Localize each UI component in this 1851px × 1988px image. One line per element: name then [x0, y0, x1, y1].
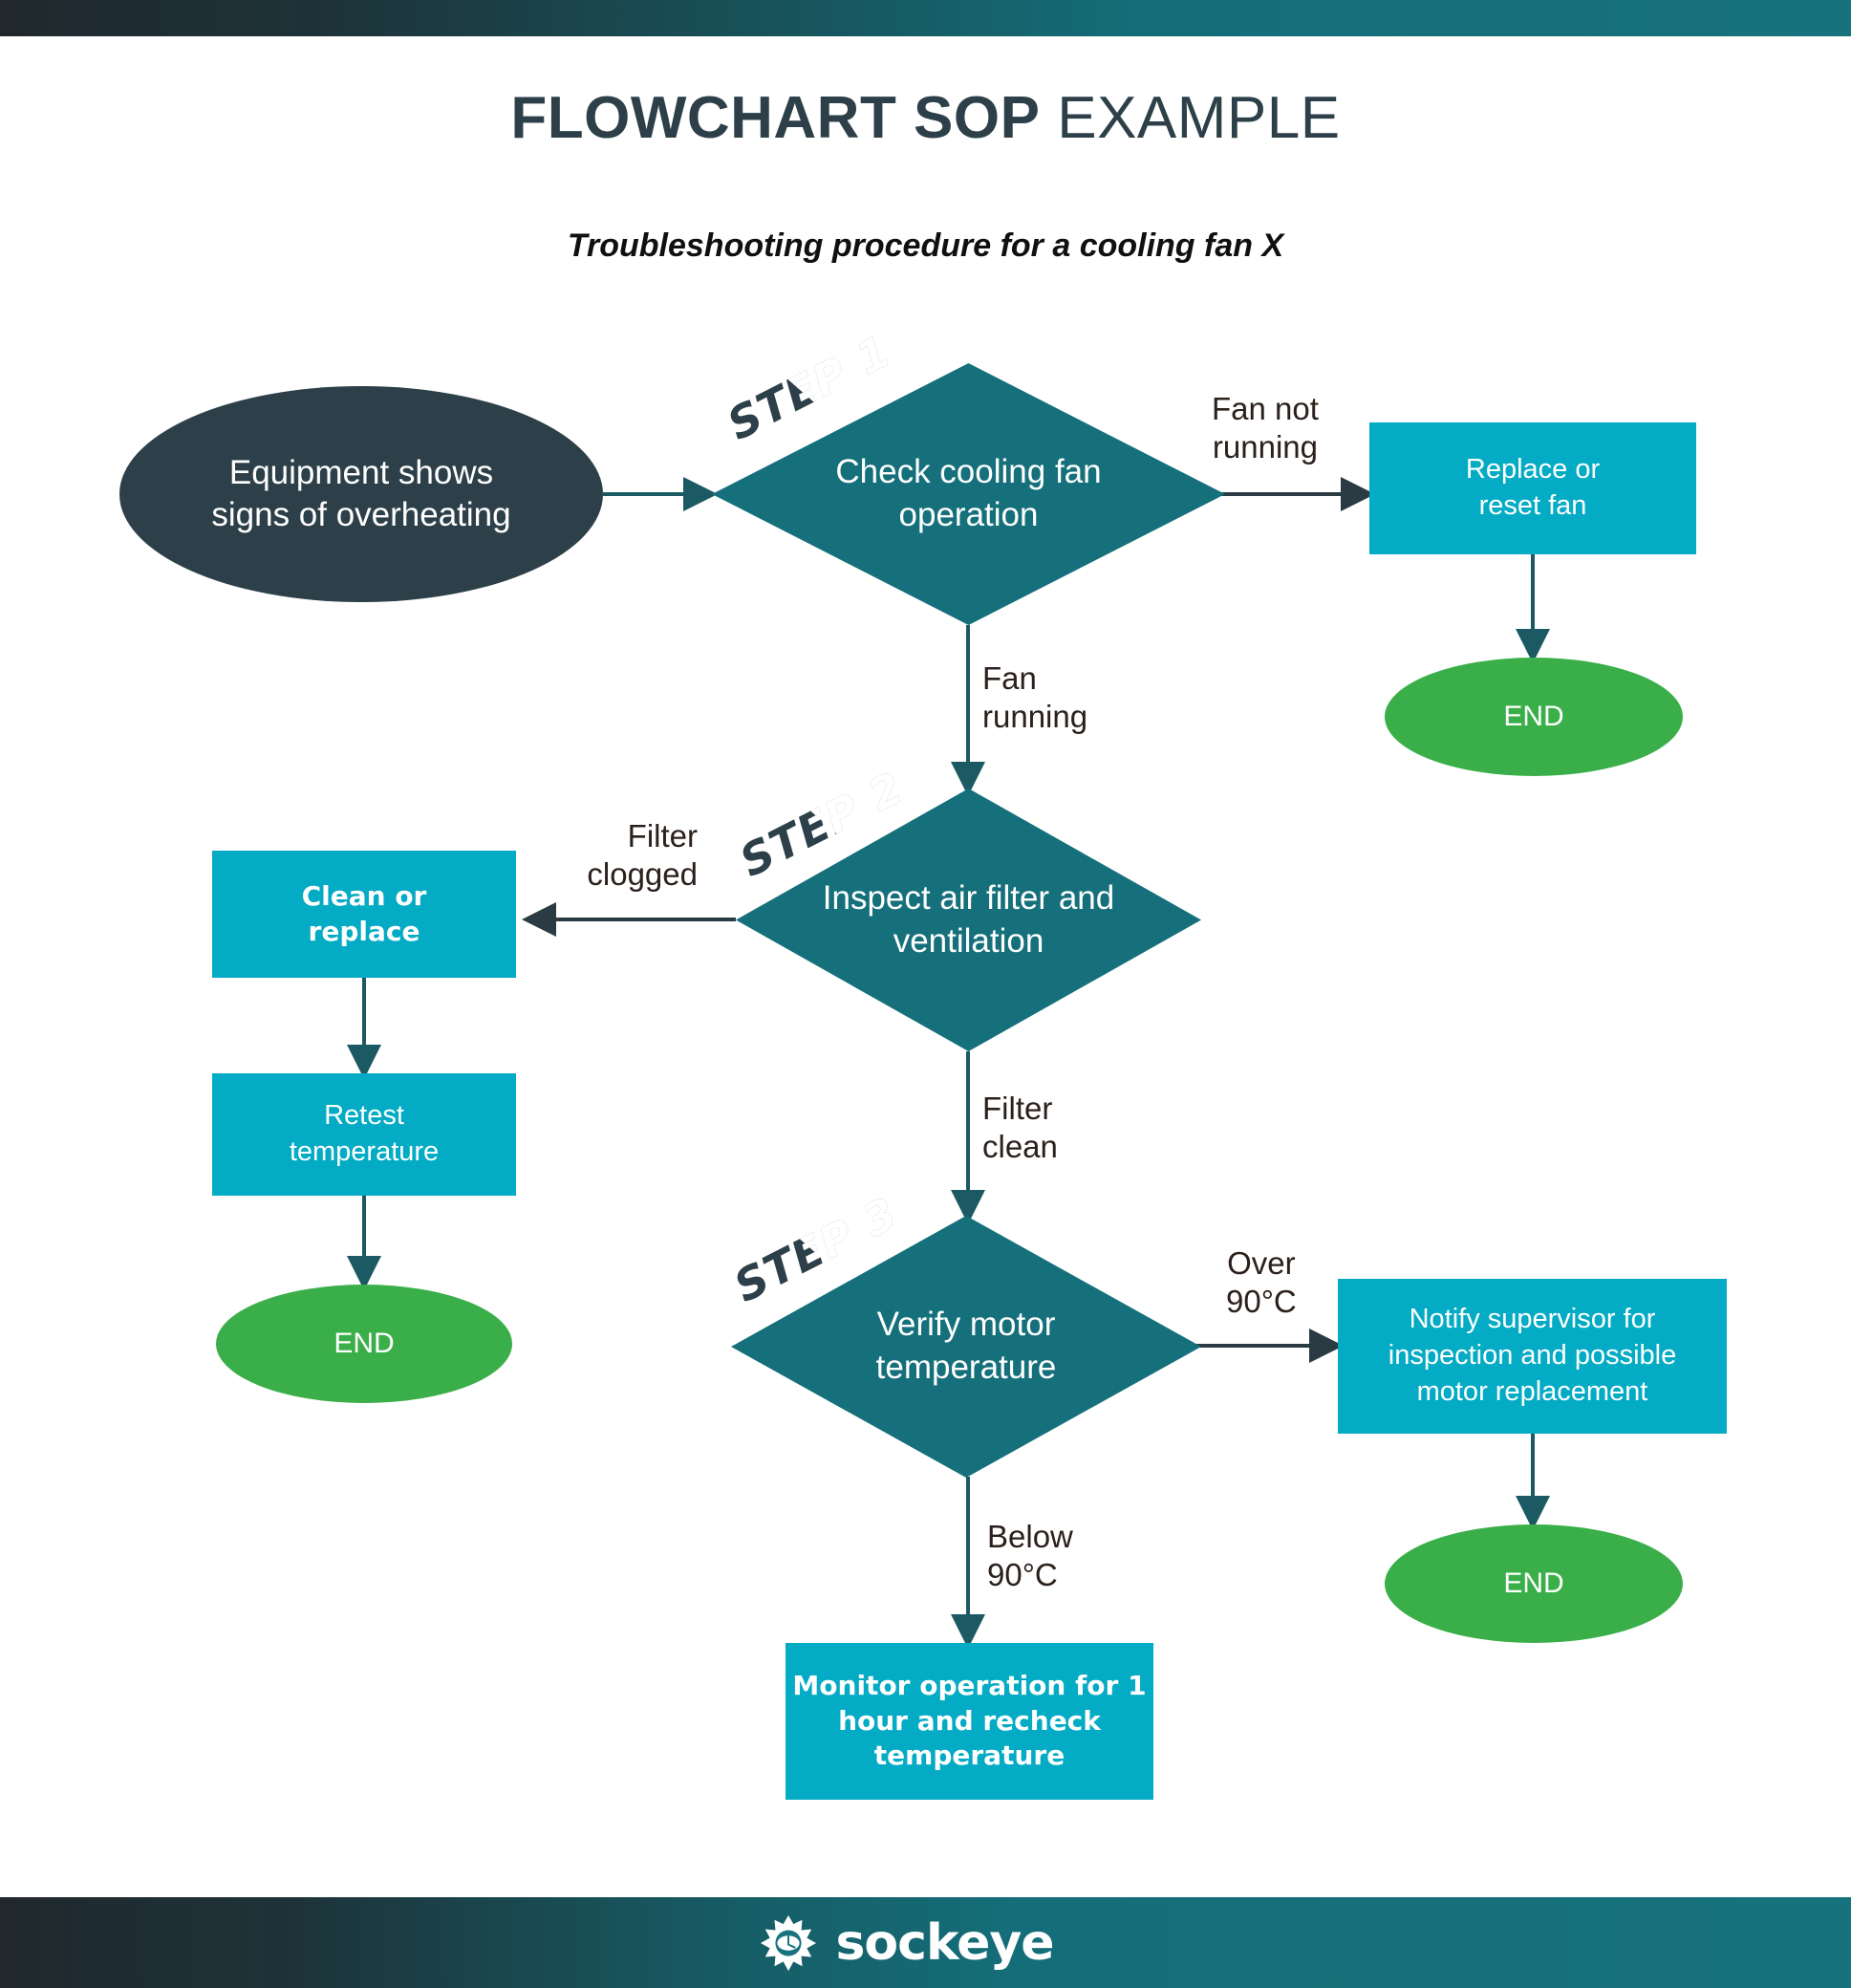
node-start-label: Equipment shows signs of overheating: [211, 452, 510, 536]
node-step2-label: Inspect air filter and ventilation: [823, 877, 1114, 963]
node-monitor-operation-label: Monitor operation for 1 hour and recheck…: [792, 1669, 1146, 1773]
node-end-3[interactable]: END: [1385, 1524, 1683, 1643]
flowchart-canvas: Equipment shows signs of overheating Che…: [0, 0, 1851, 1988]
brand-logo: sockeye: [759, 1913, 1053, 1973]
node-end-2-label: END: [334, 1327, 394, 1361]
edge-label-below-90c: Below 90°C: [987, 1518, 1073, 1595]
edge-label-filter-clogged: Filter clogged: [530, 817, 698, 895]
node-retest-temperature[interactable]: Retest temperature: [212, 1073, 516, 1196]
edge-label-fan-not-running: Fan not running: [1212, 390, 1319, 467]
node-notify-supervisor-label: Notify supervisor for inspection and pos…: [1388, 1302, 1676, 1410]
gear-clock-icon: [759, 1913, 818, 1973]
node-replace-reset-fan-label: Replace or reset fan: [1466, 452, 1600, 524]
node-step1-label: Check cooling fan operation: [835, 451, 1101, 537]
node-retest-temperature-label: Retest temperature: [290, 1098, 439, 1170]
node-start[interactable]: Equipment shows signs of overheating: [119, 386, 603, 602]
edge-label-filter-clean: Filter clean: [982, 1090, 1058, 1167]
node-notify-supervisor[interactable]: Notify supervisor for inspection and pos…: [1338, 1279, 1727, 1434]
edge-label-over-90c: Over 90°C: [1226, 1244, 1297, 1322]
node-end-1-label: END: [1503, 700, 1563, 734]
brand-logo-text: sockeye: [835, 1914, 1053, 1972]
node-clean-replace[interactable]: Clean or replace: [212, 851, 516, 978]
node-end-1[interactable]: END: [1385, 658, 1683, 776]
footer-bar: sockeye: [0, 1897, 1851, 1988]
node-step3-label: Verify motor temperature: [876, 1304, 1057, 1390]
node-clean-replace-label: Clean or replace: [302, 879, 427, 949]
node-end-2[interactable]: END: [216, 1285, 512, 1403]
node-monitor-operation[interactable]: Monitor operation for 1 hour and recheck…: [786, 1643, 1153, 1800]
edge-label-fan-running: Fan running: [982, 659, 1087, 737]
node-end-3-label: END: [1503, 1567, 1563, 1601]
node-replace-reset-fan[interactable]: Replace or reset fan: [1369, 422, 1696, 554]
